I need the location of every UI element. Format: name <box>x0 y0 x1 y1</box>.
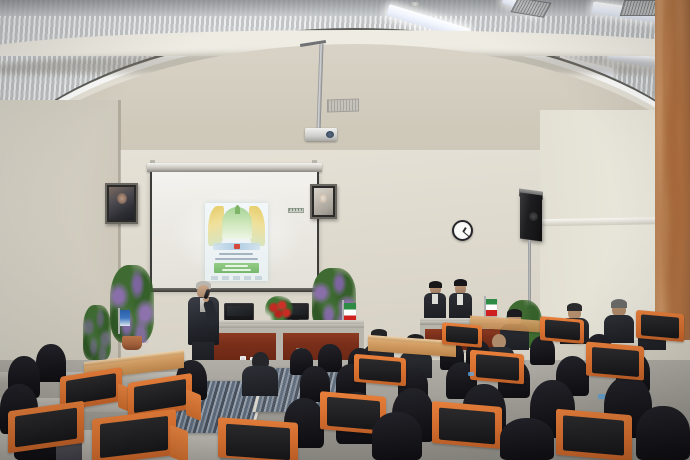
seat-right-4-pad <box>359 358 401 383</box>
projected-slide <box>205 203 268 281</box>
screen-label-text <box>289 208 303 211</box>
seat-right-9-pad <box>563 415 624 455</box>
portrait-image-right <box>314 188 333 215</box>
panelist-1-shirt <box>432 294 438 304</box>
slide-text-line-4 <box>222 269 251 271</box>
smoke-detector-1 <box>410 2 420 7</box>
plant-pot-left <box>122 336 142 350</box>
audience-chador-fg2 <box>500 418 554 460</box>
audience-man-1-hair <box>507 309 522 317</box>
pillar-texture <box>655 0 690 340</box>
projector-lens-icon <box>326 131 334 138</box>
screen-bottom-bar <box>150 288 319 292</box>
seat-right-3-pad <box>641 314 679 338</box>
seat-right-1-pad <box>446 326 478 345</box>
seat-right-2-pad <box>545 319 580 340</box>
monitor-left-screen <box>227 306 251 316</box>
auditorium-photo: Conference hall / auditorium session <box>0 0 690 460</box>
seat-left-4-arm <box>170 425 188 460</box>
seat-right-5-pad <box>476 354 519 381</box>
slide-red-accent <box>234 244 240 249</box>
flag-blue <box>120 310 130 326</box>
seat-left-2-arm <box>186 389 201 421</box>
screen-housing <box>147 163 322 172</box>
framed-portrait-right <box>310 184 337 219</box>
audience-man-8-body <box>242 366 278 396</box>
seat-right-6-pad <box>592 347 639 377</box>
pa-speaker-cone-icon <box>529 212 538 221</box>
ceiling-edge <box>0 0 690 16</box>
soffit-vent-2 <box>327 98 359 112</box>
seat-right-7-pad <box>327 397 380 431</box>
wall-clock <box>452 220 473 241</box>
panelist-2-hair <box>454 279 467 286</box>
phone-glow-2 <box>598 394 605 399</box>
monitor-left <box>224 303 254 321</box>
framed-portrait-left <box>105 183 138 224</box>
audience-man-3-hair <box>611 299 627 308</box>
hanging-plant-left-flowers <box>110 265 154 343</box>
audience-chador-fg1 <box>372 412 422 460</box>
slide-text-line-2 <box>215 258 258 260</box>
audience-chador-fg3 <box>636 406 690 460</box>
audience-man-2-hair <box>567 303 582 311</box>
portrait-image-left <box>109 187 134 220</box>
potted-plant-left-flowers <box>83 305 111 360</box>
table-bouquet-roses <box>266 298 292 322</box>
wall-corner <box>118 100 121 390</box>
clock-minute-hand <box>462 231 469 237</box>
panelist-1-hair <box>429 281 442 288</box>
slide-footer-logos <box>211 276 262 280</box>
slide-text-line-1 <box>219 253 253 255</box>
seat-right-10-pad <box>226 424 290 460</box>
flag-iran-side <box>486 299 497 316</box>
slide-dome-finial <box>235 205 240 214</box>
phone-glow-1 <box>468 372 474 376</box>
seat-right-8-pad <box>439 408 495 445</box>
panelist-2-shirt <box>457 294 463 305</box>
slide-text-line-3 <box>225 265 248 267</box>
